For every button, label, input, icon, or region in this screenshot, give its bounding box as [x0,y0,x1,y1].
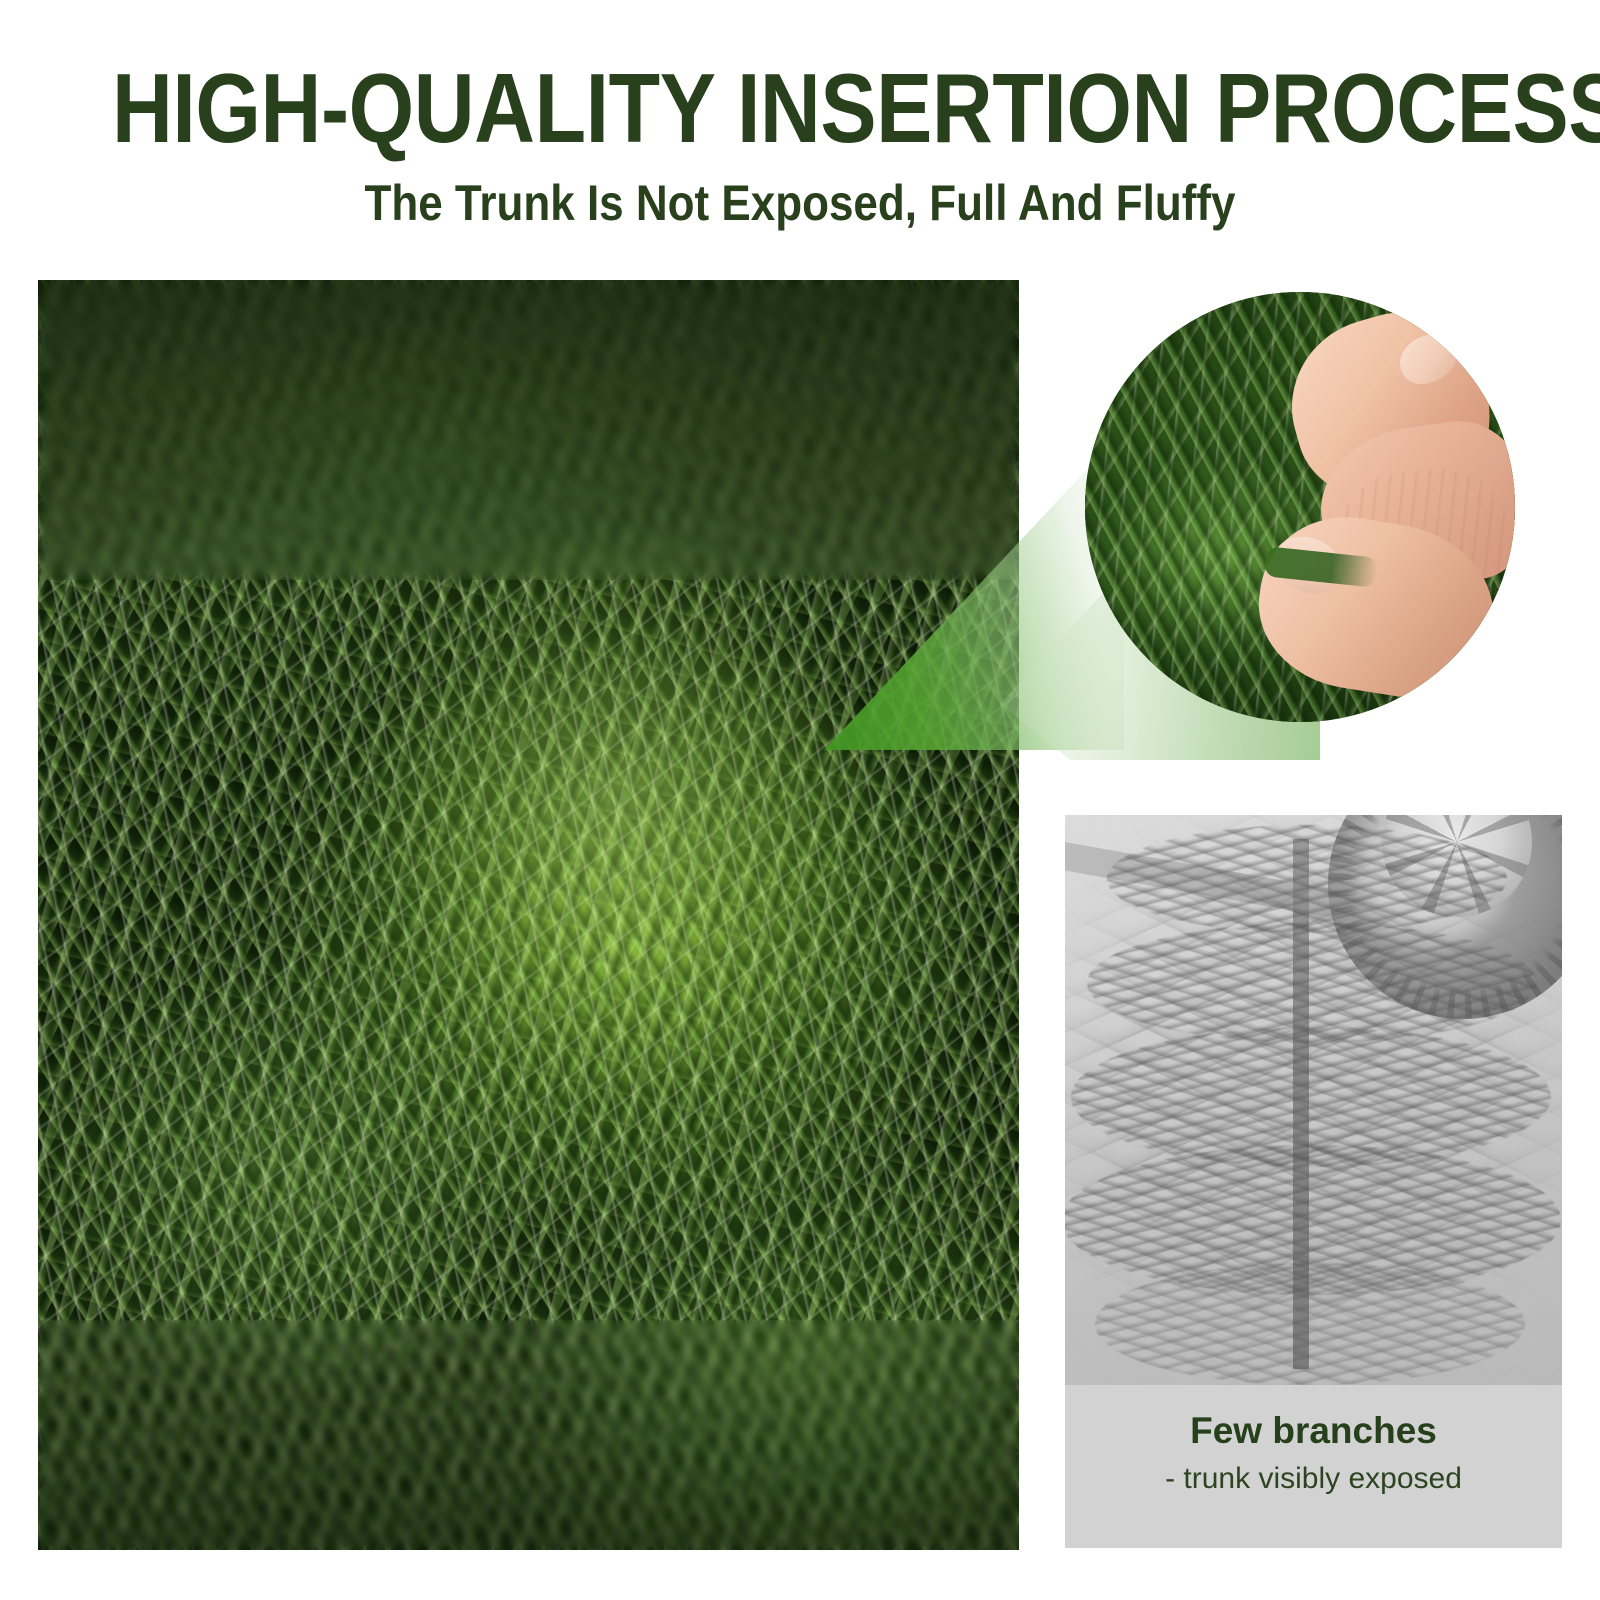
product-feature-poster: HIGH-QUALITY INSERTION PROCESS The Trunk… [0,0,1600,1600]
magnifier-circle-inset [1085,292,1515,722]
page-title: HIGH-QUALITY INSERTION PROCESS [112,58,1488,158]
photo-grain-overlay [1065,815,1562,1385]
hero-foliage-photo [38,280,1019,1550]
page-subtitle: The Trunk Is Not Exposed, Full And Fluff… [96,176,1504,230]
foliage-focus-highlight [372,534,863,1093]
sparse-tree-photo [1065,815,1562,1385]
comparison-caption: Few branches - trunk visibly exposed [1065,1385,1562,1548]
comparison-subtitle: - trunk visibly exposed [1065,1459,1562,1499]
comparison-panel: Few branches - trunk visibly exposed [1065,815,1562,1548]
foliage-top-shadow [38,280,1019,580]
hand-pinching-branch [1251,306,1515,722]
foliage-bottom-shadow [38,1320,1019,1550]
comparison-title: Few branches [1065,1409,1562,1453]
